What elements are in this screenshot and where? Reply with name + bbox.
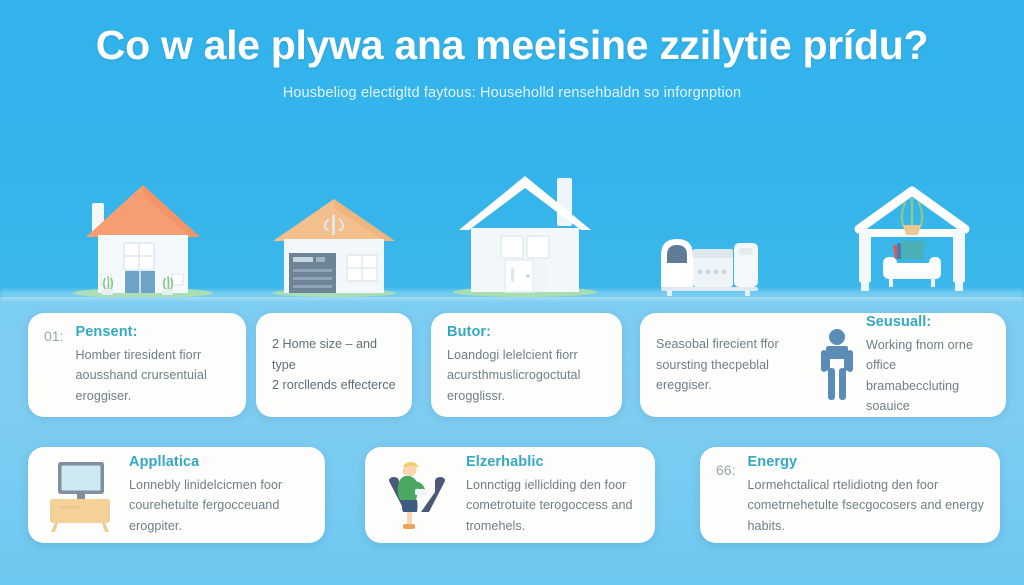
home-office-with-plant-and-sofa-icon	[845, 185, 980, 297]
person-at-desk-icon	[381, 457, 453, 533]
card-heading-1: Penѕent:	[75, 324, 230, 340]
illustration-row	[0, 172, 1024, 297]
card-row-2: Appllatica Lonnebly linidelcicmen foor c…	[0, 447, 1024, 549]
card-text-8: Lormehctalical rtelidiotng den foor come…	[747, 475, 984, 536]
page-title: Co w ale plywa ana meeisine zzilytie prí…	[0, 22, 1024, 69]
person-standing-icon	[814, 328, 860, 402]
card-heading-6: Elzerhablic	[466, 454, 639, 470]
info-card-7[interactable]: 66: Energy Lormehctalical rtelidiotng de…	[700, 447, 1000, 543]
card-number-7: 66:	[716, 462, 735, 478]
header: Co w ale plywa ana meeisine zzilytie prí…	[0, 22, 1024, 101]
card-number-1: 01:	[44, 328, 63, 344]
house-with-orange-roof-and-plants-icon	[68, 175, 218, 297]
info-card-5[interactable]: Appllatica Lonnebly linidelcicmen foor c…	[28, 447, 325, 543]
info-card-1[interactable]: 01: Penѕent: Homber tiresident fiorr aou…	[28, 313, 246, 417]
card-body-2: 2 Home size – and type 2 rorcllends effe…	[272, 334, 396, 395]
card-body-4-left: Seasobal firecient ffor soursting thecpe…	[656, 334, 814, 395]
card-text-4: Seasobal firecient ffor soursting thecpe…	[656, 334, 808, 395]
house-with-garage-door-icon	[263, 185, 406, 297]
info-card-3[interactable]: Butor: Loandogi lelelcient fiorr acursth…	[431, 313, 622, 417]
card-heading-3: Butor:	[447, 324, 606, 340]
card-body-7: Energy Lormehctalical rtelidiotng den fo…	[747, 454, 984, 536]
card-text-6: Lonnebly linidelcicmen foor courehetulte…	[129, 475, 309, 536]
card-heading-7: Energy	[747, 454, 984, 470]
card-text-2-line-1: 2 Home size – and type	[272, 334, 396, 375]
card-body-6: Elzerhablic Lonnctigg ielliclding den fo…	[466, 454, 639, 536]
card-body-3: Butor: Loandogi lelelcient fiorr acursth…	[447, 324, 606, 406]
television-on-stand-icon	[44, 458, 116, 532]
card-text-7: Lonnctigg ielliclding den foor cometrotu…	[466, 475, 639, 536]
card-text-3: Loandogi lelelcient fiorr acursthmuslicr…	[447, 345, 606, 406]
card-body-4-right: Seusuall: Working fnom orne office brama…	[860, 314, 992, 417]
card-text-5: Working fnom orne office bramabeccluting…	[866, 335, 992, 417]
card-text-1: Homber tiresident fiorr aousshand crurse…	[75, 345, 230, 406]
washing-machine-and-appliance-icon	[655, 229, 765, 297]
card-row-1: 01: Penѕent: Homber tiresident fiorr aou…	[0, 313, 1024, 421]
info-card-4[interactable]: Seasobal firecient ffor soursting thecpe…	[640, 313, 1006, 417]
page-subtitle: Housbeliog electigltd faytous: Householl…	[0, 85, 1024, 101]
card-heading-4: Seusuall:	[866, 314, 992, 330]
info-card-2[interactable]: 2 Home size – and type 2 rorcllends effe…	[256, 313, 412, 417]
card-heading-5: Appllatica	[129, 454, 309, 470]
large-white-house-with-chimney-icon	[445, 172, 605, 297]
card-body-5: Appllatica Lonnebly linidelcicmen foor c…	[129, 454, 309, 536]
card-body-1: Penѕent: Homber tiresident fiorr aoussha…	[75, 324, 230, 406]
card-text-2-line-2: 2 rorcllends effecterce	[272, 375, 396, 395]
info-card-6[interactable]: Elzerhablic Lonnctigg ielliclding den fo…	[365, 447, 655, 543]
